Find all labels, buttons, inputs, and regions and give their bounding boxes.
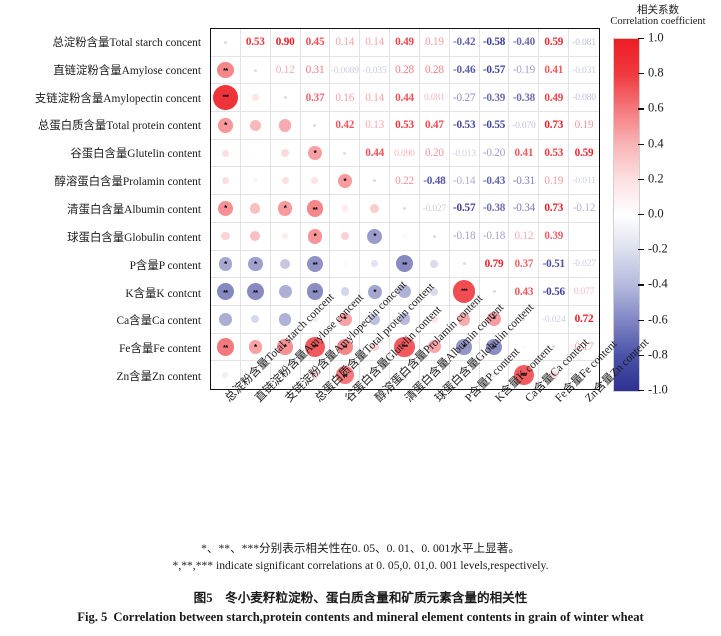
matrix-cell: 0.28 (420, 57, 450, 85)
matrix-value-label: 0.73 (544, 119, 563, 131)
matrix-bubble (221, 232, 229, 240)
matrix-cell: -0.46 (450, 57, 480, 85)
matrix-value-label: 0.20 (425, 147, 444, 159)
figure-number: Fig. 5 (77, 610, 107, 624)
matrix-diagonal-marker (224, 41, 227, 44)
matrix-value-label: 0.59 (575, 147, 594, 159)
matrix-value-label: 0.49 (544, 92, 563, 104)
matrix-cell: 0.59 (569, 140, 599, 168)
matrix-diagonal-marker (493, 290, 496, 293)
matrix-value-label: 0.53 (246, 36, 265, 48)
colorbar-tick-mark (638, 249, 644, 250)
matrix-cell: -0.55 (480, 112, 510, 140)
matrix-cell (241, 223, 271, 251)
significance-stars: ** (223, 344, 228, 351)
colorbar-tick-label: 0.8 (648, 66, 664, 81)
matrix-bubble (219, 313, 232, 326)
matrix-value-label: 0.41 (544, 64, 563, 76)
matrix-value-label: -0.027 (423, 203, 447, 214)
matrix-value-label: 0.16 (335, 92, 354, 104)
matrix-bubble (222, 372, 228, 378)
matrix-bubble (252, 94, 259, 101)
matrix-cell: -0.57 (480, 57, 510, 85)
matrix-value-label: -0.12 (573, 202, 595, 214)
matrix-cell: 0.90 (271, 29, 301, 57)
matrix-cell: -0.013 (450, 140, 480, 168)
matrix-bubble: ** (307, 256, 323, 272)
matrix-value-label: -0.0089 (331, 65, 359, 76)
matrix-bubble (253, 178, 258, 183)
matrix-value-label: 0.79 (485, 258, 504, 270)
matrix-cell: * (360, 223, 390, 251)
significance-stars: ** (402, 261, 407, 268)
matrix-bubble: * (338, 174, 352, 188)
colorbar-tick-mark (638, 214, 644, 215)
colorbar-tick-mark (638, 144, 644, 145)
matrix-value-label: 0.12 (514, 230, 533, 242)
significance-stars: * (224, 205, 227, 213)
significance-stars: *** (222, 95, 228, 102)
matrix-bubble: * (249, 340, 262, 353)
matrix-bubble: * (367, 229, 382, 244)
matrix-value-label: -0.42 (453, 36, 475, 48)
matrix-value-label: -0.40 (513, 36, 535, 48)
matrix-value-label: -0.081 (572, 37, 596, 48)
matrix-cell: 0.53 (539, 140, 569, 168)
matrix-cell: * (330, 167, 360, 195)
colorbar-title-cn: 相关系数 (595, 5, 721, 16)
significance-stars: * (254, 344, 257, 352)
matrix-value-label: -0.024 (542, 314, 566, 325)
row-label: K含量K contcnt (125, 285, 201, 301)
matrix-cell: 0.090 (390, 140, 420, 168)
matrix-cell (211, 306, 241, 334)
colorbar-tick-label: -0.8 (648, 347, 668, 362)
matrix-bubble: ** (217, 62, 233, 78)
matrix-cell: 0.16 (330, 84, 360, 112)
matrix-cell (241, 195, 271, 223)
significance-stars: * (314, 233, 317, 241)
matrix-cell (271, 167, 301, 195)
matrix-cell: ** (301, 251, 331, 279)
significance-stars: ** (313, 261, 318, 268)
matrix-cell: 0.49 (390, 29, 420, 57)
matrix-value-label: -0.51 (543, 258, 565, 270)
matrix-cell: ** (390, 251, 420, 279)
matrix-bubble (343, 262, 347, 266)
row-label: 醇溶蛋白含量Prolamin content (55, 173, 201, 189)
matrix-bubble: * (278, 201, 292, 215)
matrix-value-label: 0.090 (394, 148, 415, 159)
colorbar-title-en: Correlation coefficient (595, 16, 721, 27)
matrix-cell: 0.37 (301, 84, 331, 112)
matrix-cell: ** (211, 57, 241, 85)
row-label: 支链淀粉含量Amylopectin concent (35, 90, 201, 106)
matrix-bubble (371, 260, 378, 267)
matrix-cell: 0.19 (420, 29, 450, 57)
significance-note-cn: *、**、***分别表示相关性在0. 05、0. 01、0. 001水平上显著。 (0, 540, 721, 556)
colorbar-tick-mark (638, 108, 644, 109)
matrix-value-label: -0.57 (453, 202, 475, 214)
matrix-value-label: 0.28 (395, 64, 414, 76)
matrix-cell: * (241, 251, 271, 279)
matrix-bubble (250, 120, 261, 131)
row-label: 直链淀粉含量Amylose concent (53, 62, 201, 78)
matrix-cell: -0.38 (480, 195, 510, 223)
matrix-cell: -0.57 (450, 195, 480, 223)
matrix-cell: 0.19 (569, 112, 599, 140)
matrix-cell: 0.73 (539, 195, 569, 223)
figure-caption-en: Fig. 5Correlation between starch,protein… (0, 610, 721, 625)
matrix-value-label: -0.027 (572, 258, 596, 269)
matrix-cell (271, 140, 301, 168)
colorbar-tick-label: -0.2 (648, 242, 668, 257)
significance-stars: ** (313, 206, 318, 213)
matrix-value-label: 0.45 (306, 36, 325, 48)
matrix-value-label: -0.035 (363, 65, 387, 76)
matrix-bubble (279, 119, 292, 132)
matrix-cell: -0.20 (480, 140, 510, 168)
matrix-bubble (250, 231, 260, 241)
matrix-cell (271, 84, 301, 112)
matrix-cell: -0.19 (509, 57, 539, 85)
matrix-cell: -0.18 (450, 223, 480, 251)
matrix-value-label: 0.12 (276, 64, 295, 76)
matrix-cell: 0.37 (509, 251, 539, 279)
row-label: 总淀粉含量Total starch concent (52, 34, 201, 50)
column-labels: 总淀粉含量Total starch concent直链淀粉含量Amylose c… (210, 390, 630, 520)
matrix-bubble: * (308, 146, 322, 160)
matrix-value-label: 0.72 (575, 313, 594, 325)
row-label: 球蛋白含量Globulin content (67, 229, 201, 245)
matrix-value-label: -0.19 (513, 64, 535, 76)
matrix-bubble: * (218, 201, 233, 216)
matrix-value-label: -0.14 (453, 175, 475, 187)
matrix-cell: 0.79 (480, 251, 510, 279)
row-label: 清蛋白含量Albumin content (67, 201, 201, 217)
matrix-bubble: ** (396, 255, 413, 272)
matrix-bubble (430, 260, 438, 268)
matrix-cell: -0.42 (450, 29, 480, 57)
matrix-cell: -0.081 (569, 29, 599, 57)
matrix-bubble: ** (217, 283, 234, 300)
matrix-cell: 0.53 (241, 29, 271, 57)
significance-stars: * (254, 261, 257, 269)
matrix-bubble (370, 204, 379, 213)
matrix-bubble (253, 151, 257, 155)
matrix-cell (301, 167, 331, 195)
matrix-value-label: -0.031 (572, 65, 596, 76)
matrix-cell (271, 112, 301, 140)
matrix-cell: * (271, 195, 301, 223)
colorbar-tick-mark (638, 38, 644, 39)
matrix-value-label: 0.37 (306, 92, 325, 104)
matrix-cell: * (301, 223, 331, 251)
matrix-value-label: 0.19 (575, 119, 594, 131)
matrix-value-label: -0.43 (483, 175, 505, 187)
matrix-cell (330, 223, 360, 251)
matrix-cell: -0.035 (360, 57, 390, 85)
matrix-cell: -0.38 (509, 84, 539, 112)
significance-stars: * (373, 289, 376, 297)
matrix-value-label: 0.28 (425, 64, 444, 76)
matrix-cell (450, 251, 480, 279)
matrix-cell: 0.44 (360, 140, 390, 168)
matrix-bubble (342, 205, 348, 211)
matrix-value-label: 0.47 (425, 119, 444, 131)
matrix-cell (241, 84, 271, 112)
matrix-value-label: 0.14 (365, 92, 384, 104)
matrix-cell: 0.59 (539, 29, 569, 57)
matrix-value-label: 0.59 (544, 36, 563, 48)
matrix-diagonal-marker (284, 96, 287, 99)
matrix-bubble (282, 233, 288, 239)
matrix-diagonal-marker (373, 179, 376, 182)
matrix-value-label: -0.080 (572, 92, 596, 103)
matrix-bubble (251, 315, 259, 323)
matrix-value-label: 0.22 (395, 175, 414, 187)
matrix-cell (211, 140, 241, 168)
matrix-cell (360, 195, 390, 223)
matrix-cell (420, 251, 450, 279)
significance-stars: ** (223, 289, 228, 296)
matrix-cell: 0.47 (420, 112, 450, 140)
colorbar-tick-label: 0.4 (648, 136, 664, 151)
matrix-value-label: 0.19 (425, 36, 444, 48)
matrix-value-label: -0.38 (483, 202, 505, 214)
matrix-cell: 0.45 (301, 29, 331, 57)
matrix-value-label: 0.43 (514, 286, 533, 298)
matrix-value-label: 0.13 (365, 119, 384, 131)
matrix-cell (420, 223, 450, 251)
matrix-value-label: -0.39 (483, 92, 505, 104)
row-label: Ca含量Ca content (117, 312, 201, 328)
matrix-cell: 0.41 (539, 57, 569, 85)
matrix-diagonal-marker (254, 69, 257, 72)
matrix-cell: 0.72 (569, 306, 599, 334)
matrix-cell (330, 195, 360, 223)
matrix-value-label: 0.077 (574, 286, 595, 297)
colorbar-tick-mark (638, 179, 644, 180)
matrix-value-label: 0.42 (335, 119, 354, 131)
matrix-cell: -0.14 (450, 167, 480, 195)
matrix-value-label: 0.39 (544, 230, 563, 242)
matrix-cell: -0.031 (569, 57, 599, 85)
matrix-bubble (341, 232, 350, 241)
matrix-cell (360, 251, 390, 279)
matrix-value-label: 0.44 (365, 147, 384, 159)
matrix-diagonal-marker (463, 262, 466, 265)
matrix-bubble: ** (217, 338, 235, 356)
matrix-cell: 0.49 (539, 84, 569, 112)
colorbar-tick-label: -0.6 (648, 312, 668, 327)
matrix-cell (241, 140, 271, 168)
row-label: Zn含量Zn content (117, 368, 201, 384)
matrix-cell: -0.18 (480, 223, 510, 251)
matrix-value-label: 0.41 (514, 147, 533, 159)
matrix-cell: ** (211, 334, 241, 362)
matrix-bubble (311, 177, 318, 184)
colorbar-tick-mark (638, 284, 644, 285)
matrix-value-label: -0.53 (453, 119, 475, 131)
matrix-value-label: -0.070 (512, 120, 536, 131)
row-label: 总蛋白质含量Total protein content (38, 117, 201, 133)
matrix-cell: 0.077 (569, 278, 599, 306)
matrix-bubble (222, 177, 229, 184)
matrix-cell: -0.48 (420, 167, 450, 195)
colorbar-tick-mark (638, 73, 644, 74)
matrix-value-label: 0.19 (544, 175, 563, 187)
row-labels: 总淀粉含量Total starch concent直链淀粉含量Amylose c… (0, 28, 206, 390)
matrix-cell (569, 223, 599, 251)
significance-stars: * (373, 233, 376, 241)
matrix-bubble (522, 345, 527, 350)
colorbar-tick-label: 1.0 (648, 31, 664, 46)
matrix-cell: -0.027 (420, 195, 450, 223)
significance-stars: * (343, 178, 346, 186)
matrix-cell: 0.14 (360, 84, 390, 112)
matrix-cell: 0.14 (330, 29, 360, 57)
colorbar-title: 相关系数 Correlation coefficient (595, 5, 721, 28)
matrix-value-label: -0.20 (483, 147, 505, 159)
matrix-bubble (282, 177, 289, 184)
matrix-cell: 0.22 (390, 167, 420, 195)
significance-stars: * (224, 122, 227, 130)
matrix-value-label: 0.49 (395, 36, 414, 48)
matrix-cell: -0.0089 (330, 57, 360, 85)
matrix-value-label: 0.44 (395, 92, 414, 104)
matrix-cell: 0.53 (390, 112, 420, 140)
colorbar-tick-label: 0.0 (648, 207, 664, 222)
matrix-cell: * (211, 251, 241, 279)
matrix-value-label: 0.37 (514, 258, 533, 270)
figure-root: 相关系数 Correlation coefficient 1.00.80.60.… (0, 0, 721, 636)
matrix-cell: 0.20 (420, 140, 450, 168)
matrix-cell: -0.56 (539, 278, 569, 306)
row-label: Fe含量Fe content (119, 340, 201, 356)
matrix-bubble (279, 285, 292, 298)
matrix-bubble: * (218, 118, 232, 132)
matrix-cell (330, 251, 360, 279)
matrix-cell: 0.12 (509, 223, 539, 251)
matrix-cell: -0.12 (569, 195, 599, 223)
matrix-value-label: 0.14 (335, 36, 354, 48)
matrix-cell (241, 112, 271, 140)
colorbar-tick-label: 0.6 (648, 101, 664, 116)
matrix-bubble (402, 234, 407, 239)
matrix-value-label: -0.18 (483, 230, 505, 242)
matrix-value-label: -0.011 (572, 175, 595, 186)
matrix-bubble: * (308, 229, 323, 244)
matrix-value-label: 0.73 (544, 202, 563, 214)
matrix-value-label: -0.27 (453, 92, 475, 104)
matrix-value-label: 0.14 (365, 36, 384, 48)
matrix-cell (301, 112, 331, 140)
matrix-cell: -0.39 (480, 84, 510, 112)
matrix-cell (330, 140, 360, 168)
significance-stars: ** (253, 289, 258, 296)
significance-stars: ** (223, 67, 228, 74)
matrix-cell: ** (241, 278, 271, 306)
matrix-cell: * (301, 140, 331, 168)
matrix-bubble: ** (247, 283, 264, 300)
matrix-value-label: -0.56 (543, 286, 565, 298)
figure-caption-cn: 图5 冬小麦籽粒淀粉、蛋白质含量和矿质元素含量的相关性 (0, 587, 721, 606)
matrix-cell (241, 306, 271, 334)
matrix-value-label: 0.53 (395, 119, 414, 131)
matrix-value-label: -0.57 (483, 64, 505, 76)
matrix-bubble (222, 150, 229, 157)
matrix-value-label: -0.31 (513, 175, 535, 187)
matrix-cell: * (211, 112, 241, 140)
colorbar-tick-mark (638, 390, 644, 391)
matrix-cell: 0.31 (301, 57, 331, 85)
matrix-bubble: *** (213, 85, 238, 110)
matrix-bubble (341, 287, 350, 296)
row-label: P含量P content (130, 257, 201, 273)
matrix-cell: -0.31 (509, 167, 539, 195)
matrix-cell (241, 167, 271, 195)
matrix-value-label: -0.38 (513, 92, 535, 104)
matrix-cell: -0.51 (539, 251, 569, 279)
matrix-cell (360, 167, 390, 195)
matrix-cell: 0.19 (539, 167, 569, 195)
matrix-cell: 0.13 (360, 112, 390, 140)
matrix-cell: -0.53 (450, 112, 480, 140)
matrix-cell: 0.42 (330, 112, 360, 140)
matrix-bubble (250, 203, 260, 213)
significance-stars: * (314, 150, 317, 158)
matrix-cell: 0.14 (360, 29, 390, 57)
colorbar-legend: 1.00.80.60.40.20.0-0.2-0.4-0.6-0.8-1.0 (613, 38, 713, 390)
matrix-cell (211, 29, 241, 57)
matrix-cell (390, 195, 420, 223)
matrix-cell: -0.34 (509, 195, 539, 223)
matrix-cell: -0.58 (480, 29, 510, 57)
matrix-cell: 0.44 (390, 84, 420, 112)
matrix-bubble (281, 149, 289, 157)
matrix-cell: ** (211, 278, 241, 306)
matrix-cell: -0.027 (569, 251, 599, 279)
matrix-diagonal-marker (403, 207, 406, 210)
matrix-cell (211, 167, 241, 195)
matrix-cell: 0.28 (390, 57, 420, 85)
colorbar-tick-label: -1.0 (648, 383, 668, 398)
matrix-value-label: -0.34 (513, 202, 535, 214)
matrix-cell: 0.39 (539, 223, 569, 251)
significance-stars: ** (313, 289, 318, 296)
matrix-cell: 0.081 (420, 84, 450, 112)
matrix-value-label: -0.18 (453, 230, 475, 242)
matrix-cell (390, 223, 420, 251)
matrix-cell (271, 251, 301, 279)
matrix-cell (211, 223, 241, 251)
matrix-diagonal-marker (343, 152, 346, 155)
matrix-value-label: 0.081 (424, 92, 445, 103)
row-label: 谷蛋白含量Glutelin content (70, 145, 201, 161)
matrix-cell (271, 223, 301, 251)
matrix-cell: * (211, 195, 241, 223)
matrix-cell: -0.070 (509, 112, 539, 140)
matrix-value-label: 0.31 (306, 64, 325, 76)
figure-caption-en-text: Correlation between starch,protein conte… (113, 610, 643, 624)
matrix-bubble: * (248, 257, 263, 272)
significance-note-en: *,**,*** indicate significant correlatio… (0, 559, 721, 572)
matrix-value-label: 0.53 (544, 147, 563, 159)
matrix-value-label: 0.90 (276, 36, 295, 48)
matrix-value-label: -0.46 (453, 64, 475, 76)
matrix-cell (241, 57, 271, 85)
